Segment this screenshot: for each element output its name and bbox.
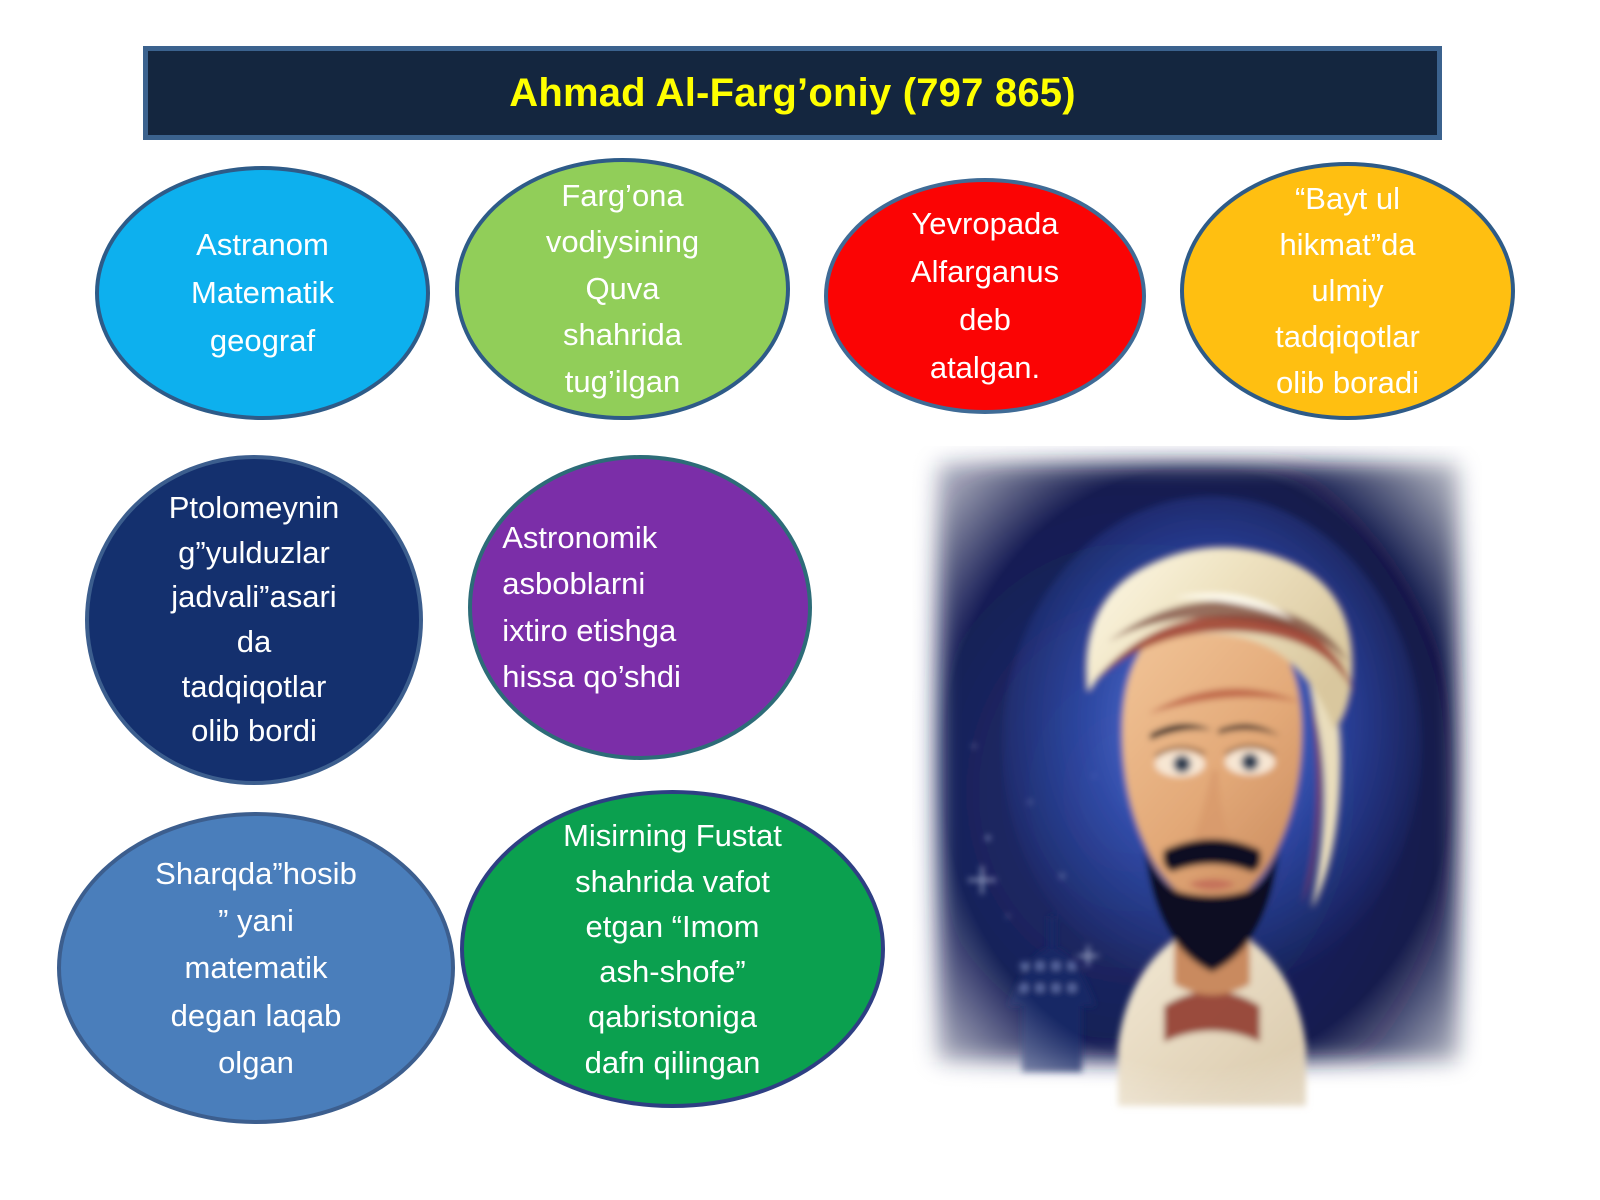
bubble-astronomer[interactable]: Astranom Matematik geograf <box>95 166 430 420</box>
bubble-europe-name-label: Yevropada Alfarganus deb atalgan. <box>863 200 1108 392</box>
bubble-birthplace-label: Farg’ona vodiysining Quva shahrida tug’i… <box>482 173 763 406</box>
portrait-image <box>912 446 1482 1118</box>
bubble-nickname-label: Sharqda”hosib ” yani matematik degan laq… <box>100 850 412 1086</box>
bubble-ptolemy-research[interactable]: Ptolomeynin g”yulduzlar jadvali”asari da… <box>85 455 423 785</box>
slide-title-banner: Ahmad Al-Farg’oniy (797 865) <box>143 46 1442 140</box>
bubble-astronomical-instruments-label: Astronomik asboblarni ixtiro etishga his… <box>502 515 778 701</box>
bubble-nickname[interactable]: Sharqda”hosib ” yani matematik degan laq… <box>57 812 455 1124</box>
page-title: Ahmad Al-Farg’oniy (797 865) <box>509 71 1075 116</box>
bubble-astronomer-label: Astranom Matematik geograf <box>135 221 390 365</box>
bubble-europe-name[interactable]: Yevropada Alfarganus deb atalgan. <box>824 178 1146 414</box>
bubble-bayt-ul-hikmat[interactable]: “Bayt ul hikmat”da ulmiy tadqiqotlar oli… <box>1180 162 1515 420</box>
bubble-astronomical-instruments[interactable]: Astronomik asboblarni ixtiro etishga his… <box>468 455 812 760</box>
bubble-birthplace[interactable]: Farg’ona vodiysining Quva shahrida tug’i… <box>455 158 790 420</box>
bubble-death-and-burial[interactable]: Misirning Fustat shahrida vafot etgan “I… <box>460 790 885 1108</box>
bubble-bayt-ul-hikmat-label: “Bayt ul hikmat”da ulmiy tadqiqotlar oli… <box>1210 176 1485 405</box>
bubble-death-and-burial-label: Misirning Fustat shahrida vafot etgan “I… <box>502 813 844 1085</box>
bubble-ptolemy-research-label: Ptolomeynin g”yulduzlar jadvali”asari da… <box>112 486 396 754</box>
portrait-illustration <box>912 446 1482 1118</box>
